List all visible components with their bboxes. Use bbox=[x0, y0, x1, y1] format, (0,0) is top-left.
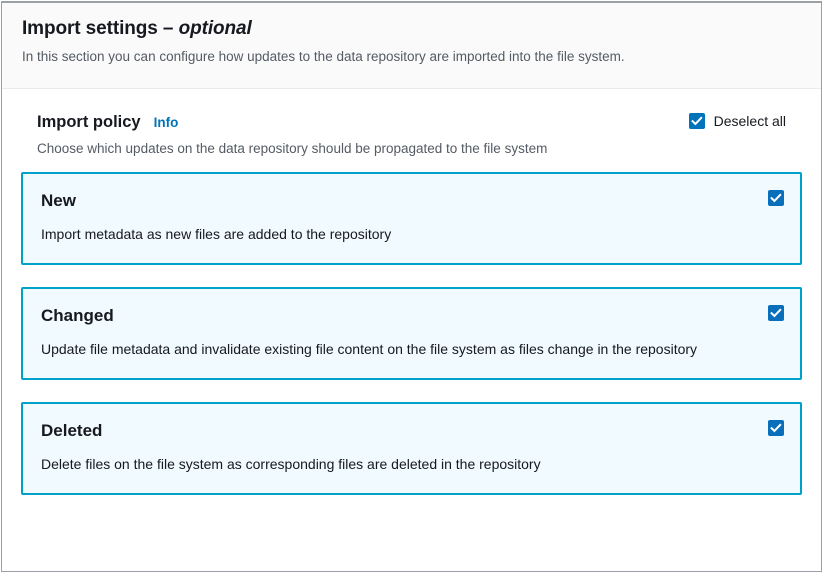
page-title-optional: optional bbox=[179, 18, 252, 39]
page-title-dash: – bbox=[163, 18, 179, 39]
policy-card-checkbox[interactable] bbox=[768, 305, 784, 321]
policy-card-checkbox[interactable] bbox=[768, 420, 784, 436]
deselect-all-checkbox[interactable] bbox=[689, 113, 705, 129]
policy-card-top: New bbox=[41, 190, 784, 212]
import-policy-header-left: Import policy Info Choose which updates … bbox=[37, 111, 547, 158]
import-policy-description: Choose which updates on the data reposit… bbox=[37, 139, 547, 158]
deselect-all-label: Deselect all bbox=[714, 112, 786, 130]
page-subtitle: In this section you can configure how up… bbox=[22, 47, 801, 66]
policy-card-changed[interactable]: Changed Update file metadata and invalid… bbox=[21, 287, 802, 380]
policy-card-description: Delete files on the file system as corre… bbox=[41, 453, 731, 475]
policy-card-description: Import metadata as new files are added t… bbox=[41, 223, 731, 245]
import-policy-header: Import policy Info Choose which updates … bbox=[21, 111, 802, 158]
policy-card-new[interactable]: New Import metadata as new files are add… bbox=[21, 172, 802, 265]
policy-card-title: New bbox=[41, 190, 76, 212]
checkmark-icon bbox=[770, 307, 782, 319]
policy-card-checkbox[interactable] bbox=[768, 190, 784, 206]
policy-card-deleted[interactable]: Deleted Delete files on the file system … bbox=[21, 402, 802, 495]
policy-card-top: Deleted bbox=[41, 420, 784, 442]
info-link[interactable]: Info bbox=[154, 115, 179, 130]
policy-card-top: Changed bbox=[41, 305, 784, 327]
checkmark-icon bbox=[770, 192, 782, 204]
import-settings-panel: Import settings – optional In this secti… bbox=[1, 1, 822, 572]
deselect-all-control[interactable]: Deselect all bbox=[689, 112, 786, 130]
page-title: Import settings – optional bbox=[22, 16, 801, 42]
panel-header: Import settings – optional In this secti… bbox=[2, 3, 821, 89]
import-policy-title-row: Import policy Info bbox=[37, 111, 547, 133]
page-title-main: Import settings bbox=[22, 18, 163, 39]
policy-card-list: New Import metadata as new files are add… bbox=[21, 172, 802, 495]
policy-card-description: Update file metadata and invalidate exis… bbox=[41, 338, 731, 360]
checkmark-icon bbox=[691, 115, 703, 127]
import-policy-title: Import policy bbox=[37, 111, 141, 133]
panel-body: Import policy Info Choose which updates … bbox=[2, 89, 821, 571]
policy-card-title: Deleted bbox=[41, 420, 102, 442]
checkmark-icon bbox=[770, 422, 782, 434]
import-settings-screen: Import settings – optional In this secti… bbox=[0, 0, 823, 573]
policy-card-title: Changed bbox=[41, 305, 114, 327]
